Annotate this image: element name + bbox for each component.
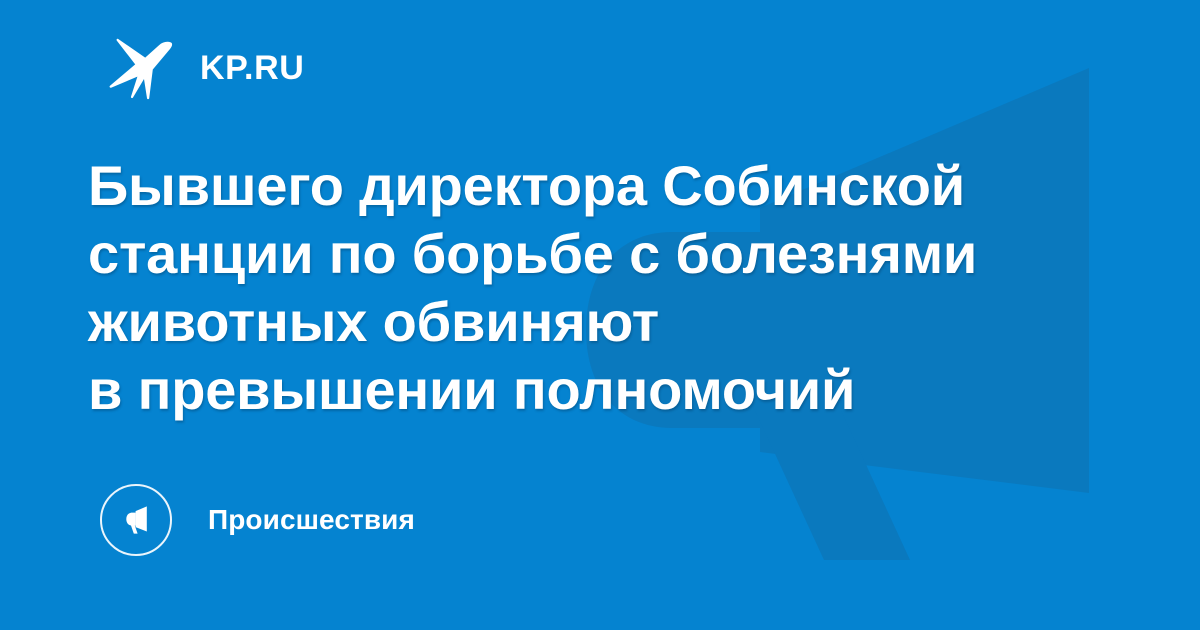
swallow-bird-icon (108, 36, 174, 100)
social-share-card: KP.RU Бывшего директора Собинской станци… (0, 0, 1200, 630)
category-badge[interactable]: Происшествия (100, 484, 415, 556)
brand-wordmark: KP.RU (200, 51, 304, 85)
brand-logo[interactable]: KP.RU (108, 36, 304, 100)
category-label: Происшествия (208, 506, 415, 534)
headline-line-1: Бывшего директора Собинской (88, 152, 1048, 220)
headline-line-2: станции по борьбе с болезнями (88, 220, 1048, 288)
megaphone-icon (116, 500, 156, 540)
headline-line-4: в превышении полномочий (88, 356, 1048, 424)
headline-line-3: животных обвиняют (88, 288, 1048, 356)
megaphone-icon-circle (100, 484, 172, 556)
headline: Бывшего директора Собинской станции по б… (88, 152, 1048, 424)
